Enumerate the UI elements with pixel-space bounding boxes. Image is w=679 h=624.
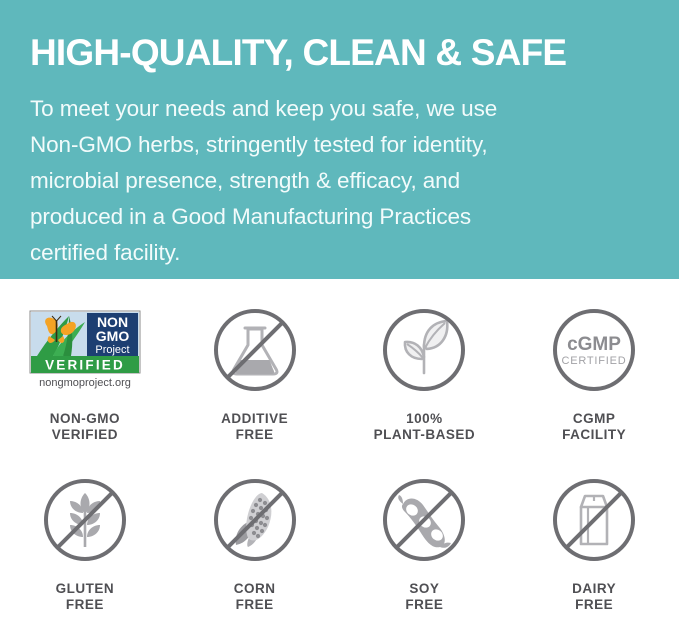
badge-caption-line: GLUTEN <box>56 581 115 597</box>
badge-caption-line: FREE <box>234 597 276 613</box>
badge-additive-free: ADDITIVE FREE <box>170 300 340 470</box>
seal-word-project: Project <box>95 344 129 356</box>
badge-art: cGMP CERTIFIED <box>551 300 637 400</box>
badge-soy-free: SOY FREE <box>340 470 510 624</box>
badge-plant-based: 100% PLANT-BASED <box>340 300 510 470</box>
cgmp-certified-seal-icon: cGMP CERTIFIED <box>551 307 637 393</box>
milk-carton-no-dairy-icon <box>551 477 637 563</box>
seal-word-gmo: GMO <box>96 328 130 344</box>
banner-description: To meet your needs and keep you safe, we… <box>30 91 620 271</box>
wheat-no-gluten-icon <box>42 477 128 563</box>
cgmp-seal-line2: CERTIFIED <box>562 355 627 367</box>
page-title: HIGH-QUALITY, CLEAN & SAFE <box>30 33 566 74</box>
badge-dairy-free: DAIRY FREE <box>509 470 679 624</box>
badge-art <box>42 470 128 570</box>
badge-caption-line: CGMP <box>562 411 626 427</box>
badge-caption-line: CORN <box>234 581 276 597</box>
certification-badge-grid: NON GMO Project VERIFIED nongmoproject.o… <box>0 300 679 624</box>
flask-no-additives-icon <box>212 307 298 393</box>
header-banner: HIGH-QUALITY, CLEAN & SAFE To meet your … <box>0 0 679 279</box>
badge-caption-line: FACILITY <box>562 427 626 443</box>
badge-art <box>381 300 467 400</box>
badge-caption-line: VERIFIED <box>50 427 120 443</box>
badge-caption-line: FREE <box>56 597 115 613</box>
badge-caption: GLUTEN FREE <box>56 581 115 613</box>
seal-url: nongmoproject.org <box>39 377 131 389</box>
banner-body-line: To meet your needs and keep you safe, we… <box>30 91 620 127</box>
badge-corn-free: CORN FREE <box>170 470 340 624</box>
badge-caption-line: SOY <box>405 581 443 597</box>
badge-caption-line: FREE <box>221 427 288 443</box>
banner-body-line: certified facility. <box>30 235 620 271</box>
soybean-no-soy-icon <box>381 477 467 563</box>
banner-body-line: Non-GMO herbs, stringently tested for id… <box>30 127 620 163</box>
badge-non-gmo-verified: NON GMO Project VERIFIED nongmoproject.o… <box>0 300 170 470</box>
non-gmo-project-verified-seal-icon: NON GMO Project VERIFIED nongmoproject.o… <box>29 310 141 390</box>
badge-caption: NON-GMO VERIFIED <box>50 411 120 443</box>
badge-caption: DAIRY FREE <box>572 581 616 613</box>
badge-caption-line: PLANT-BASED <box>374 427 476 443</box>
badge-row-1: NON GMO Project VERIFIED nongmoproject.o… <box>0 300 679 470</box>
badge-caption: CGMP FACILITY <box>562 411 626 443</box>
badge-caption-line: 100% <box>374 411 476 427</box>
sprout-plant-icon <box>381 307 467 393</box>
cgmp-seal-line1: cGMP <box>567 334 621 355</box>
badge-art <box>381 470 467 570</box>
badge-caption: SOY FREE <box>405 581 443 613</box>
badge-row-2: GLUTEN FREE <box>0 470 679 624</box>
badge-art <box>212 300 298 400</box>
banner-body-line: microbial presence, strength & efficacy,… <box>30 163 620 199</box>
seal-word-verified: VERIFIED <box>45 358 125 373</box>
badge-caption: 100% PLANT-BASED <box>374 411 476 443</box>
corn-no-corn-icon <box>212 477 298 563</box>
badge-art <box>212 470 298 570</box>
badge-cgmp-facility: cGMP CERTIFIED CGMP FACILITY <box>509 300 679 470</box>
badge-caption-line: ADDITIVE <box>221 411 288 427</box>
badge-gluten-free: GLUTEN FREE <box>0 470 170 624</box>
banner-body-line: produced in a Good Manufacturing Practic… <box>30 199 620 235</box>
badge-caption-line: FREE <box>572 597 616 613</box>
badge-art: NON GMO Project VERIFIED nongmoproject.o… <box>29 300 141 400</box>
badge-caption-line: NON-GMO <box>50 411 120 427</box>
badge-caption: CORN FREE <box>234 581 276 613</box>
badge-caption: ADDITIVE FREE <box>221 411 288 443</box>
badge-caption-line: DAIRY <box>572 581 616 597</box>
badge-art <box>551 470 637 570</box>
badge-caption-line: FREE <box>405 597 443 613</box>
